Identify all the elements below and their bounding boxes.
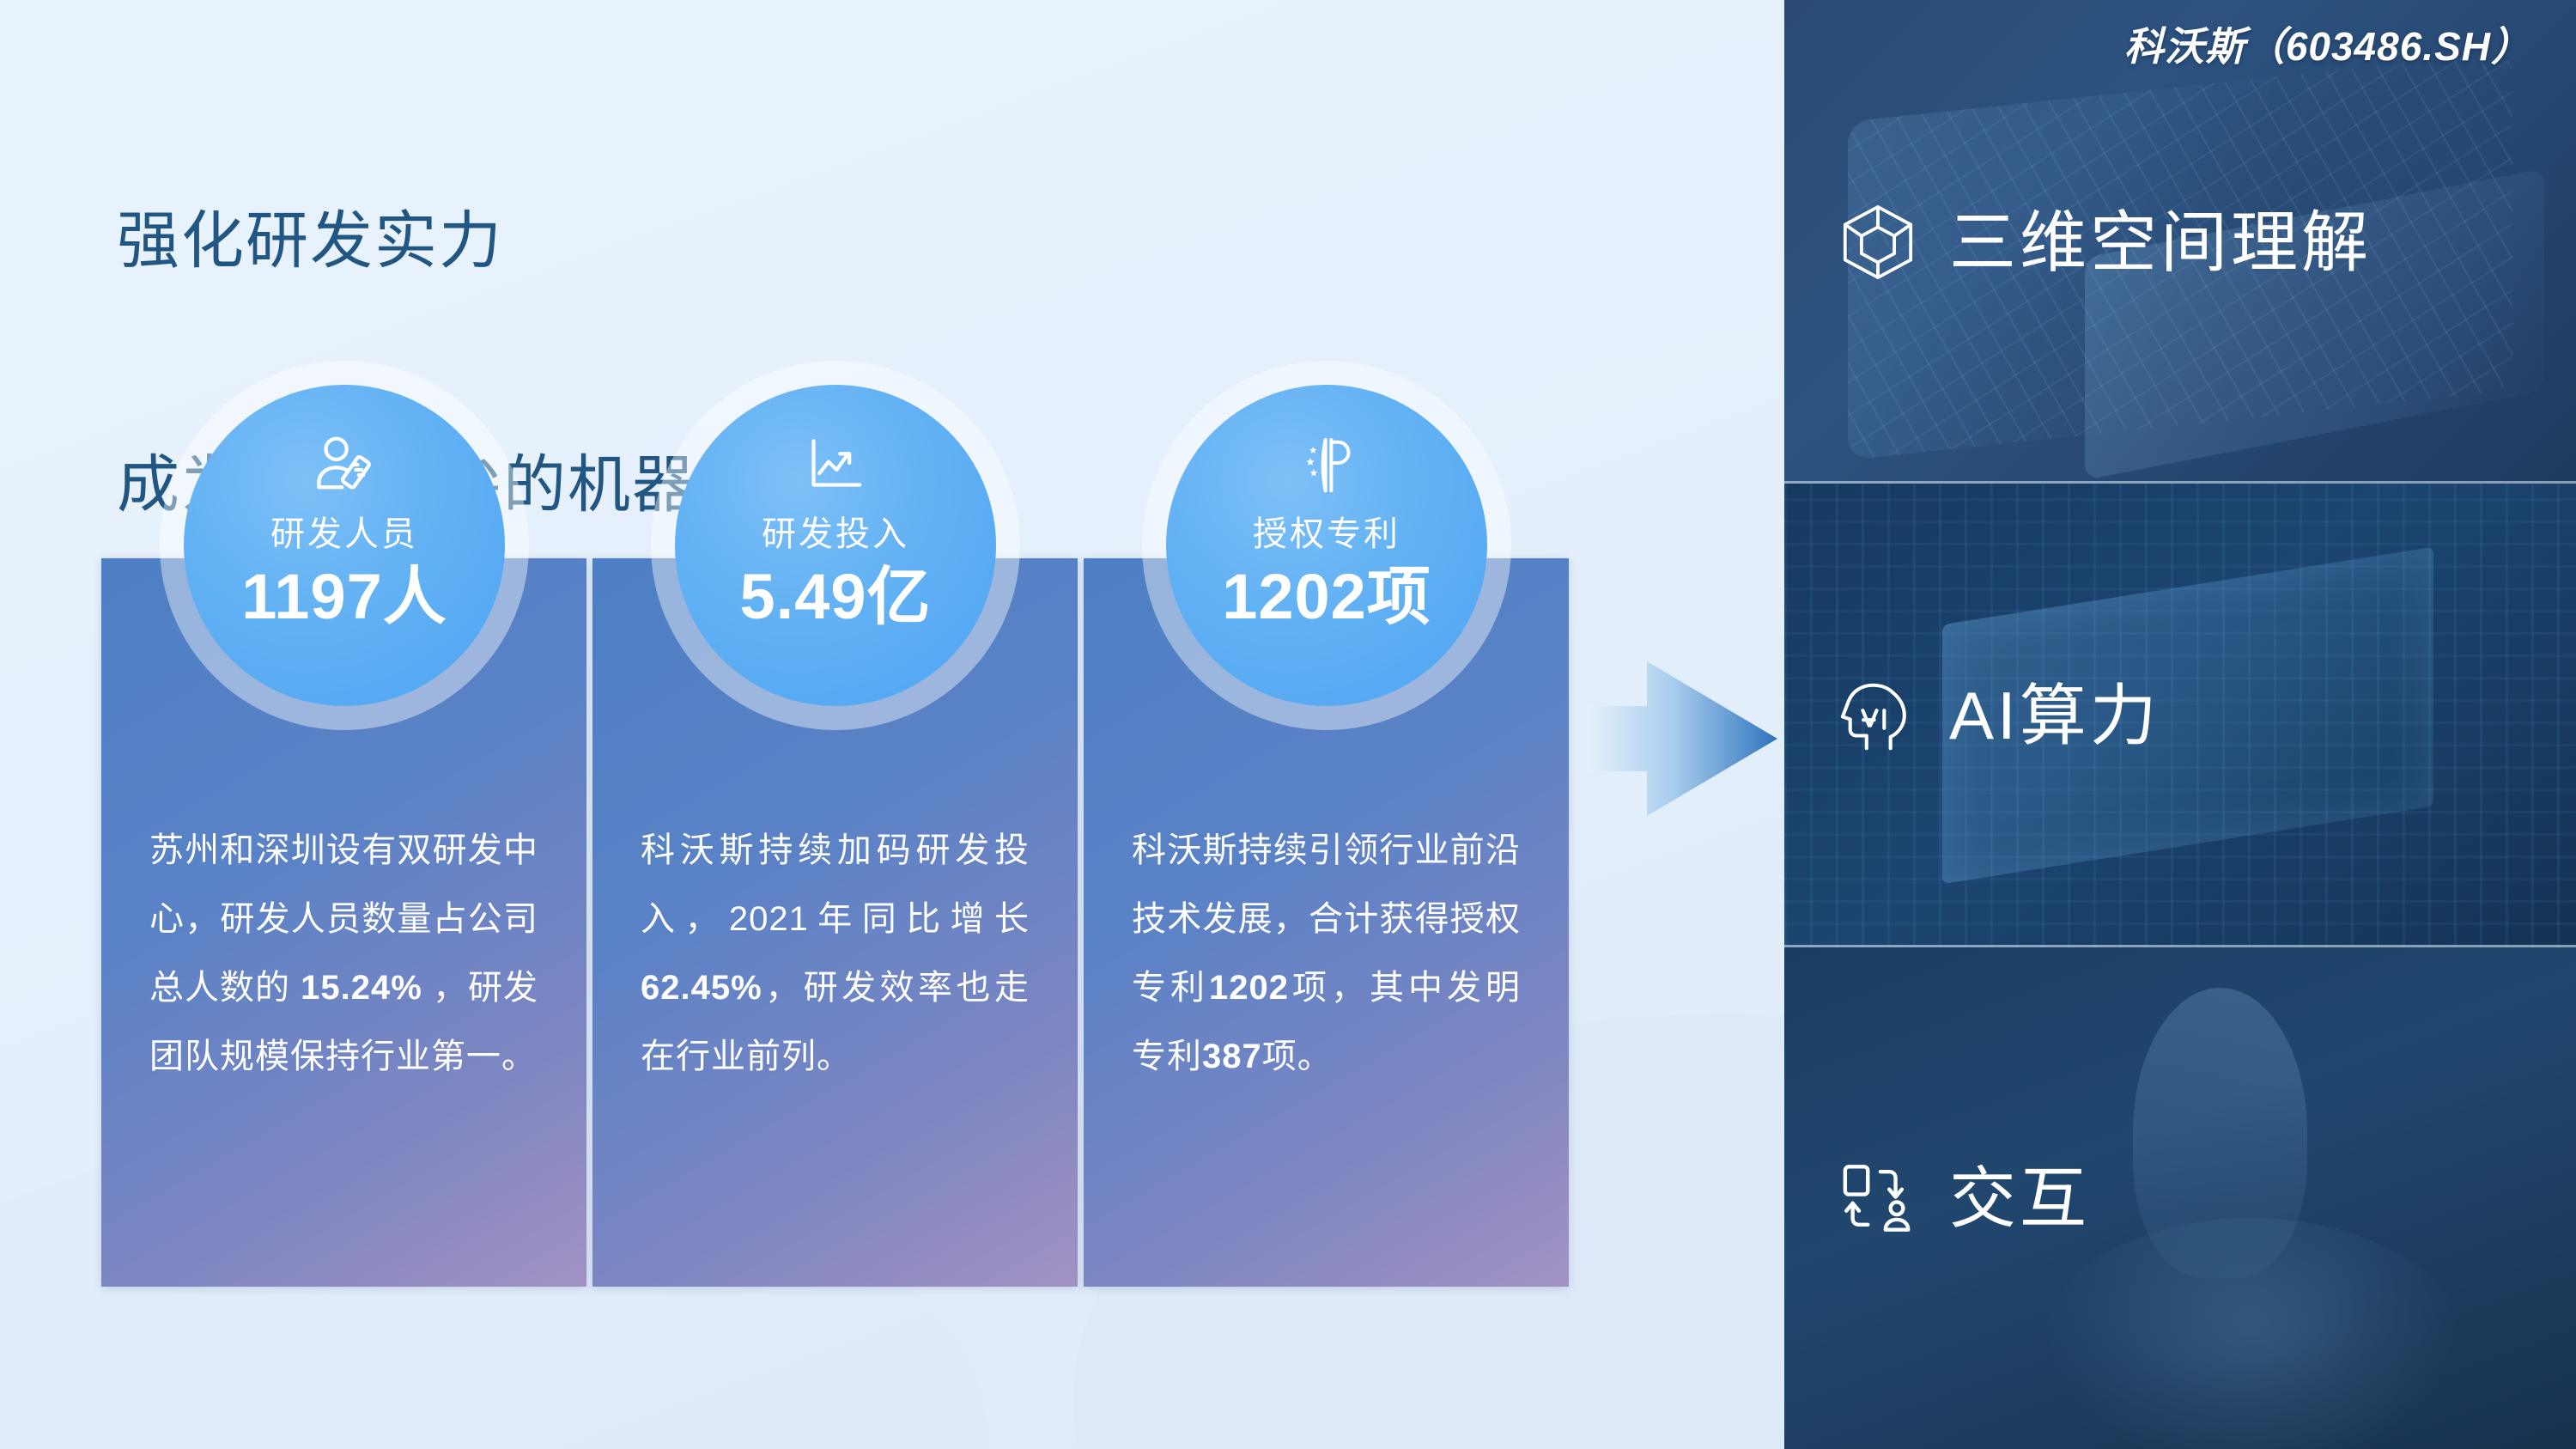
title-line-1: 强化研发实力 — [117, 201, 890, 283]
slide-root: 强化研发实力 成为全球顶尖的机器人公司 苏州和深圳设有双研发中心，研发人员数量占… — [0, 0, 2576, 1449]
row-content: 三维空间理解 — [1784, 202, 2372, 283]
body-highlight-2: 387 — [1202, 1038, 1262, 1075]
stat-card-body: 科沃斯持续加码研发投入，2021年同比增长62.45%，研发效率也走在行业前列。 — [641, 816, 1030, 1091]
body-highlight: 15.24% — [301, 969, 422, 1007]
row-content: 交互 — [1784, 1158, 2090, 1239]
stat-card-body: 科沃斯持续引领行业前沿技术发展，合计获得授权专利1202项，其中发明专利387项… — [1132, 816, 1521, 1091]
stat-circle-patents: 授权专利 1202项 — [1142, 361, 1511, 730]
left-content-panel: 强化研发实力 成为全球顶尖的机器人公司 苏州和深圳设有双研发中心，研发人员数量占… — [0, 0, 1784, 1449]
researcher-ruler-icon — [307, 429, 381, 503]
stock-code-badge: 科沃斯（603486.SH） — [2124, 15, 2531, 72]
circle-label: 授权专利 — [1253, 515, 1400, 553]
body-prefix: 科沃斯持续加码研发投入，2021年同比增长 — [641, 831, 1030, 938]
cube-3d-icon — [1838, 202, 1918, 283]
body-highlight: 62.45% — [641, 969, 762, 1007]
circle-body: 授权专利 1202项 — [1166, 385, 1487, 706]
circle-value: 1202项 — [1222, 560, 1431, 633]
capability-row-interaction: 交互 — [1784, 947, 2576, 1449]
body-suffix: 项。 — [1262, 1038, 1333, 1075]
circle-value: 1197人 — [241, 560, 447, 633]
growth-chart-icon — [799, 429, 872, 503]
circle-body: 研发投入 5.49亿 — [675, 385, 996, 706]
capability-panel: 三维空间理解 AI算力 — [1784, 0, 2576, 1449]
row-content: AI算力 — [1784, 675, 2160, 756]
stat-circle-rd-investment: 研发投入 5.49亿 — [651, 361, 1020, 730]
circle-value: 5.49亿 — [739, 560, 931, 633]
patent-ip-icon — [1290, 429, 1364, 503]
right-arrow-icon — [1587, 653, 1784, 825]
interaction-icon — [1838, 1158, 1918, 1239]
body-highlight: 1202 — [1209, 969, 1289, 1007]
ai-head-icon — [1838, 675, 1918, 756]
capability-row-ai: AI算力 — [1784, 484, 2576, 947]
capability-label: 交互 — [1949, 1165, 2090, 1232]
circle-label: 研发人员 — [270, 515, 418, 553]
capability-label: AI算力 — [1949, 682, 2160, 749]
stat-card-body: 苏州和深圳设有双研发中心，研发人员数量占公司总人数的 15.24% ，研发团队规… — [149, 816, 538, 1091]
capability-label: 三维空间理解 — [1949, 209, 2372, 276]
capability-row-3d: 三维空间理解 — [1784, 0, 2576, 484]
stat-circle-researchers: 研发人员 1197人 — [160, 361, 529, 730]
circle-label: 研发投入 — [762, 515, 909, 553]
circle-body: 研发人员 1197人 — [184, 385, 505, 706]
